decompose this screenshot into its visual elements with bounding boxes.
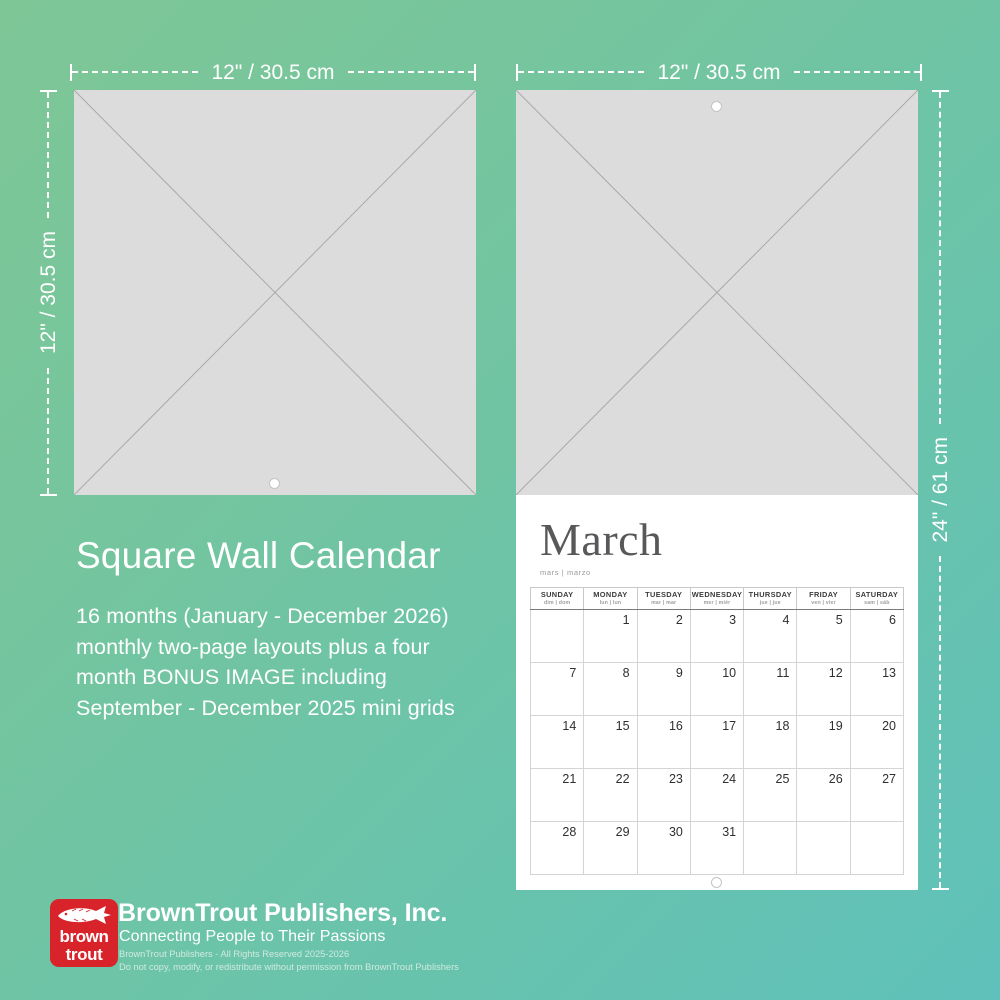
calendar-day-cell[interactable]: 23 bbox=[637, 768, 690, 821]
calendar-day-cell[interactable]: 3 bbox=[690, 609, 743, 662]
day-header-sub: mar | mar bbox=[638, 600, 690, 606]
day-header-name: FRIDAY bbox=[797, 591, 849, 600]
ruler-dash-left bbox=[518, 71, 644, 73]
calendar-week-row: 14 15 16 17 18 19 20 bbox=[531, 715, 904, 768]
calendar-day-cell[interactable]: 8 bbox=[584, 662, 637, 715]
legal-line: BrownTrout Publishers - All Rights Reser… bbox=[119, 948, 459, 961]
calendar-day-cell[interactable]: 17 bbox=[690, 715, 743, 768]
day-header-sub: jue | jue bbox=[744, 600, 796, 606]
calendar-day-cell[interactable]: 21 bbox=[531, 768, 584, 821]
calendar-day-cell[interactable]: 22 bbox=[584, 768, 637, 821]
calendar-day-cell[interactable]: 12 bbox=[797, 662, 850, 715]
day-header-friday: FRIDAY ven | vier bbox=[797, 588, 850, 610]
calendar-day-cell[interactable]: 24 bbox=[690, 768, 743, 821]
ruler-dash-right bbox=[794, 71, 920, 73]
calendar-day-cell[interactable] bbox=[850, 821, 903, 874]
ruler-left-panel-height: 12" / 30.5 cm bbox=[38, 90, 58, 496]
ruler-dash-right bbox=[348, 71, 474, 73]
calendar-month-subtitle: mars | marzo bbox=[540, 568, 918, 577]
placeholder-cross-icon bbox=[74, 90, 476, 495]
punch-hole-calendar-page bbox=[711, 877, 722, 888]
ruler-cap-end bbox=[920, 64, 922, 81]
calendar-day-cell[interactable]: 6 bbox=[850, 609, 903, 662]
calendar-day-cell[interactable]: 10 bbox=[690, 662, 743, 715]
calendar-day-cell[interactable]: 4 bbox=[744, 609, 797, 662]
calendar-day-cell[interactable]: 30 bbox=[637, 821, 690, 874]
ruler-right-panel-width: 12" / 30.5 cm bbox=[516, 62, 922, 82]
ruler-right-panel-height-label: 24" / 61 cm bbox=[930, 424, 951, 556]
punch-hole-left-panel bbox=[269, 478, 280, 489]
left-image-placeholder-panel bbox=[74, 90, 476, 495]
calendar-week-row: 7 8 9 10 11 12 13 bbox=[531, 662, 904, 715]
day-header-thursday: THURSDAY jue | jue bbox=[744, 588, 797, 610]
page-title: Square Wall Calendar bbox=[76, 536, 441, 577]
day-header-name: TUESDAY bbox=[638, 591, 690, 600]
day-header-name: WEDNESDAY bbox=[691, 591, 743, 600]
ruler-cap-end bbox=[40, 494, 57, 496]
calendar-day-cell[interactable]: 9 bbox=[637, 662, 690, 715]
ruler-dash-bottom bbox=[47, 368, 49, 494]
calendar-grid-wrap: SUNDAY dim | dom MONDAY lun | lun TUESDA… bbox=[516, 577, 918, 875]
calendar-day-cell[interactable]: 25 bbox=[744, 768, 797, 821]
calendar-day-cell[interactable]: 18 bbox=[744, 715, 797, 768]
ruler-dash-left bbox=[72, 71, 198, 73]
day-header-name: THURSDAY bbox=[744, 591, 796, 600]
calendar-day-cell[interactable]: 2 bbox=[637, 609, 690, 662]
product-description: 16 months (January - December 2026) mont… bbox=[76, 601, 536, 724]
browntrout-logo[interactable]: brown trout bbox=[50, 899, 118, 967]
calendar-day-cell[interactable]: 31 bbox=[690, 821, 743, 874]
day-header-name: SUNDAY bbox=[531, 591, 583, 600]
ruler-cap-end bbox=[474, 64, 476, 81]
calendar-week-row: 21 22 23 24 25 26 27 bbox=[531, 768, 904, 821]
ruler-left-panel-width: 12" / 30.5 cm bbox=[70, 62, 476, 82]
calendar-month-block: March mars | marzo bbox=[516, 495, 918, 577]
calendar-day-cell[interactable]: 26 bbox=[797, 768, 850, 821]
brand-tagline: Connecting People to Their Passions bbox=[119, 929, 385, 945]
calendar-day-cell[interactable]: 19 bbox=[797, 715, 850, 768]
day-header-sunday: SUNDAY dim | dom bbox=[531, 588, 584, 610]
description-line: 16 months (January - December 2026) bbox=[76, 601, 536, 632]
calendar-day-cell[interactable] bbox=[797, 821, 850, 874]
trout-fish-icon bbox=[54, 904, 114, 926]
calendar-day-cell[interactable]: 20 bbox=[850, 715, 903, 768]
day-header-sub: lun | lun bbox=[584, 600, 636, 606]
calendar-day-cell[interactable]: 15 bbox=[584, 715, 637, 768]
calendar-day-cell[interactable]: 14 bbox=[531, 715, 584, 768]
ruler-dash-bottom bbox=[939, 556, 941, 888]
day-header-sub: mer | miér bbox=[691, 600, 743, 606]
calendar-day-cell[interactable]: 13 bbox=[850, 662, 903, 715]
day-header-saturday: SATURDAY sam | sáb bbox=[850, 588, 903, 610]
ruler-left-panel-width-label: 12" / 30.5 cm bbox=[198, 62, 347, 83]
day-header-name: SATURDAY bbox=[851, 591, 903, 600]
ruler-cap-end bbox=[932, 888, 949, 890]
day-header-name: MONDAY bbox=[584, 591, 636, 600]
calendar-week-row: 1 2 3 4 5 6 bbox=[531, 609, 904, 662]
description-line: monthly two-page layouts plus a four bbox=[76, 632, 536, 663]
ruler-dash-top bbox=[47, 92, 49, 218]
calendar-day-cell[interactable]: 27 bbox=[850, 768, 903, 821]
calendar-day-cell[interactable] bbox=[531, 609, 584, 662]
day-header-tuesday: TUESDAY mar | mar bbox=[637, 588, 690, 610]
ruler-right-panel-height: 24" / 61 cm bbox=[930, 90, 950, 890]
calendar-month-title: March bbox=[540, 517, 918, 563]
calendar-day-cell[interactable]: 5 bbox=[797, 609, 850, 662]
ruler-right-panel-width-label: 12" / 30.5 cm bbox=[644, 62, 793, 83]
day-header-sub: dim | dom bbox=[531, 600, 583, 606]
logo-word-brown: brown bbox=[50, 928, 118, 945]
punch-hole-right-panel bbox=[711, 101, 722, 112]
day-header-sub: ven | vier bbox=[797, 600, 849, 606]
calendar-day-cell[interactable]: 11 bbox=[744, 662, 797, 715]
legal-notice: BrownTrout Publishers - All Rights Reser… bbox=[119, 948, 459, 973]
ruler-left-panel-height-label: 12" / 30.5 cm bbox=[38, 218, 59, 367]
brand-name: BrownTrout Publishers, Inc. bbox=[118, 901, 447, 926]
calendar-week-row: 28 29 30 31 bbox=[531, 821, 904, 874]
calendar-page: March mars | marzo SUNDAY dim | dom MOND… bbox=[516, 495, 918, 890]
day-header-sub: sam | sáb bbox=[851, 600, 903, 606]
day-header-monday: MONDAY lun | lun bbox=[584, 588, 637, 610]
logo-word-trout: trout bbox=[50, 946, 118, 963]
calendar-day-cell[interactable]: 16 bbox=[637, 715, 690, 768]
legal-line: Do not copy, modify, or redistribute wit… bbox=[119, 961, 459, 974]
right-image-placeholder-panel bbox=[516, 90, 918, 495]
calendar-day-cell[interactable]: 7 bbox=[531, 662, 584, 715]
calendar-day-cell[interactable]: 29 bbox=[584, 821, 637, 874]
description-line: month BONUS IMAGE including bbox=[76, 662, 536, 693]
calendar-day-cell[interactable]: 28 bbox=[531, 821, 584, 874]
calendar-grid: SUNDAY dim | dom MONDAY lun | lun TUESDA… bbox=[530, 587, 904, 875]
calendar-day-cell[interactable] bbox=[744, 821, 797, 874]
calendar-day-cell[interactable]: 1 bbox=[584, 609, 637, 662]
calendar-header-row: SUNDAY dim | dom MONDAY lun | lun TUESDA… bbox=[531, 588, 904, 610]
description-line: September - December 2025 mini grids bbox=[76, 693, 536, 724]
day-header-wednesday: WEDNESDAY mer | miér bbox=[690, 588, 743, 610]
ruler-dash-top bbox=[939, 92, 941, 424]
placeholder-cross-icon bbox=[516, 90, 918, 495]
